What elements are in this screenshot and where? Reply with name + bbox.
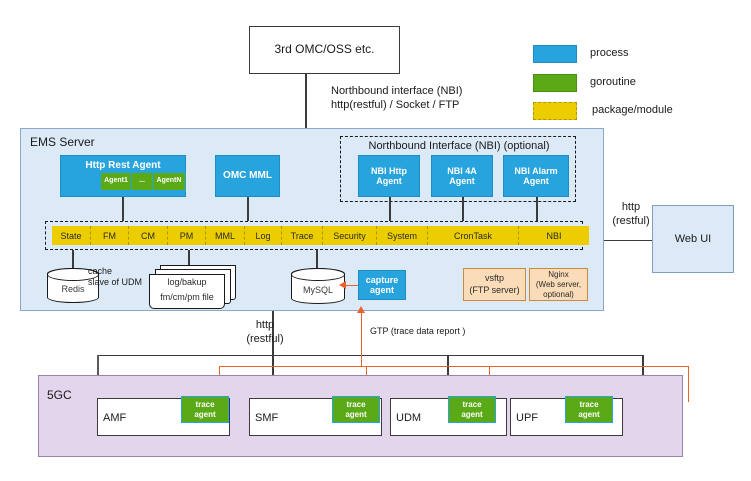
module-cm: CM [129, 226, 168, 245]
gtp-label: GTP (trace data report ) [370, 326, 530, 338]
capture-to-mysql-line [345, 285, 358, 286]
redis-note: cache slave of UDM [88, 266, 154, 289]
connector-modules-to-files [188, 250, 190, 265]
gtp-branch-to-upf [688, 366, 689, 402]
nbi-link-label: Northbound interface (NBI) http(restful)… [331, 84, 541, 113]
webui-link-label: http (restful) [608, 200, 654, 229]
module-pm: PM [168, 226, 206, 245]
nbi-alarm-agent-box: NBI Alarm Agent [503, 155, 569, 197]
webui-connector-line [604, 240, 652, 241]
capture-agent-box: capture agent [358, 270, 406, 300]
gtp-trunk-line [361, 311, 362, 366]
trace-agent-udm: trace agent [448, 396, 496, 423]
nbi-connector-line [305, 74, 307, 128]
connector-nbi-alarm-to-modules [536, 197, 538, 221]
fivegc-title: 5GC [47, 388, 72, 402]
third-party-omc-oss-label: 3rd OMC/OSS etc. [274, 43, 374, 57]
module-mml: MML [206, 226, 245, 245]
node-udm-label: UDM [396, 411, 421, 425]
web-ui-box: Web UI [652, 205, 734, 273]
nbi-http-agent-box: NBI Http Agent [358, 155, 420, 197]
http-rest-agent-goroutines: Agent1 ... AgentN [100, 172, 182, 189]
legend-swatch-package [533, 102, 577, 120]
module-fm: FM [91, 226, 129, 245]
third-party-omc-oss-box: 3rd OMC/OSS etc. [249, 26, 400, 74]
module-security: Security [323, 226, 377, 245]
node-smf-label: SMF [255, 411, 278, 425]
legend-swatch-goroutine [533, 74, 577, 92]
module-log: Log [245, 226, 282, 245]
connector-http-rest-agent-to-modules [122, 197, 124, 221]
connector-modules-to-redis [72, 250, 74, 268]
nbi-4a-agent-box: NBI 4A Agent [431, 155, 493, 197]
goroutine-agentn: AgentN [153, 172, 186, 191]
nginx-service-box: Nginx (Web server, optional) [529, 268, 588, 301]
trace-agent-amf: trace agent [181, 396, 229, 423]
legend: process goroutine package/module [533, 42, 733, 117]
web-ui-label: Web UI [675, 233, 711, 246]
log-backup-label-line1: log/bakup [149, 276, 225, 288]
nbi-group-title: Northbound Interface (NBI) (optional) [341, 140, 577, 152]
http-rest-agent-title: Http Rest Agent [85, 160, 160, 172]
goroutine-agent1: Agent1 [100, 172, 132, 191]
gtp-distribution-bus [219, 366, 689, 367]
omc-mml-box: OMC MML [215, 155, 280, 197]
package-module-row: State FM CM PM MML Log Trace Security Sy… [52, 226, 589, 245]
node-amf-label: AMF [103, 411, 126, 425]
module-crontask: CronTask [428, 226, 519, 245]
vsftp-service-box: vsftp (FTP server) [463, 268, 526, 301]
omc-mml-title: OMC MML [223, 170, 272, 182]
legend-label-package: package/module [592, 104, 673, 116]
connector-nbi-4a-to-modules [462, 197, 464, 221]
module-trace: Trace [282, 226, 323, 245]
node-upf-label: UPF [516, 411, 538, 425]
trace-agent-upf: trace agent [565, 396, 613, 423]
log-backup-label-line2: fm/cm/pm file [147, 291, 227, 303]
architecture-diagram: 3rd OMC/OSS etc. Northbound interface (N… [0, 0, 751, 481]
mysql-database-cylinder: MySQL [291, 268, 345, 304]
legend-swatch-process [533, 45, 577, 63]
trace-agent-smf: trace agent [332, 396, 380, 423]
mysql-label: MySQL [303, 278, 333, 295]
ems-server-title: EMS Server [30, 135, 95, 149]
legend-label-process: process [590, 47, 629, 59]
redis-label: Redis [61, 277, 84, 294]
connector-omc-mml-to-modules [247, 197, 249, 221]
http-restful-label: http (restful) [240, 318, 290, 347]
module-state: State [52, 226, 91, 245]
goroutine-ellipsis: ... [132, 172, 153, 191]
http-restful-distribution-bus [98, 355, 644, 356]
module-nbi: NBI [519, 226, 589, 245]
legend-label-goroutine: goroutine [590, 76, 636, 88]
connector-nbi-http-to-modules [389, 197, 391, 221]
capture-to-mysql-arrowhead [339, 281, 346, 289]
module-system: System [377, 226, 428, 245]
gtp-trunk-arrowhead [357, 306, 365, 313]
connector-modules-to-mysql [316, 250, 318, 268]
